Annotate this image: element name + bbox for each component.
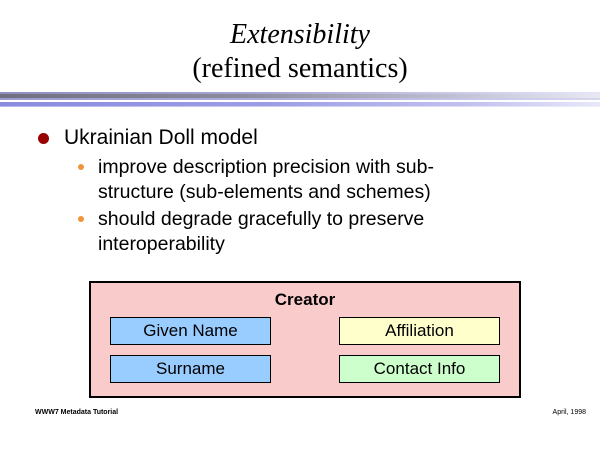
diagram-sub-element-grid: Given Name Affiliation Surname Contact I… <box>91 317 519 393</box>
slide-canvas: Extensibility (refined semantics) Ukrain… <box>0 0 600 450</box>
page-title-line-2: (refined semantics) <box>0 52 600 86</box>
sub-bullet-dot-icon <box>78 164 84 170</box>
divider-rule-5 <box>0 106 600 107</box>
sub-bullet-line-1: should degrade gracefully to preserve <box>98 207 566 232</box>
bullet-disc-icon <box>38 133 49 144</box>
diagram-row: Given Name Affiliation <box>110 317 500 345</box>
diagram-cell-surname: Surname <box>110 355 271 383</box>
diagram-cell-affiliation: Affiliation <box>339 317 500 345</box>
sub-bullet-line-1: improve description precision with sub- <box>98 155 566 180</box>
footer-right-text: April, 1998 <box>553 409 586 416</box>
sub-bullet-dot-icon <box>78 216 84 222</box>
sub-bullet-line-2: interoperability <box>98 232 566 257</box>
bullet-item-level2-improve: improve description precision with sub- … <box>70 155 566 205</box>
diagram-container-label: Creator <box>91 290 519 310</box>
title-divider <box>0 92 600 108</box>
sub-bullet-line-2: structure (sub-elements and schemes) <box>98 180 566 205</box>
bullet-item-label: Ukrainian Doll model <box>64 126 258 149</box>
diagram-cell-given-name: Given Name <box>110 317 271 345</box>
bullet-item-level2-degrade: should degrade gracefully to preserve in… <box>70 207 566 257</box>
bullet-item-level1: Ukrainian Doll model <box>36 124 566 151</box>
footer-left-text: WWW7 Metadata Tutorial <box>35 409 118 416</box>
creator-structure-diagram: Creator Given Name Affiliation Surname C… <box>89 281 521 398</box>
slide-title-block: Extensibility (refined semantics) <box>0 18 600 86</box>
diagram-cell-contact-info: Contact Info <box>339 355 500 383</box>
page-title-line-1: Extensibility <box>0 18 600 52</box>
bullet-list: Ukrainian Doll model improve description… <box>36 124 566 259</box>
diagram-row: Surname Contact Info <box>110 355 500 383</box>
